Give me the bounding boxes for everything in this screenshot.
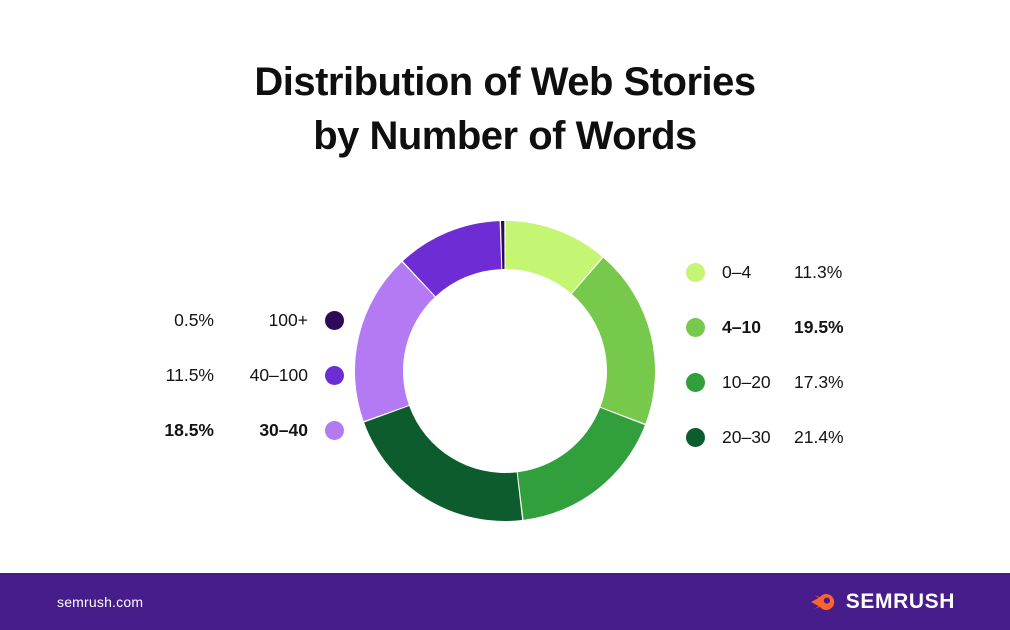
legend-swatch-icon bbox=[686, 263, 705, 282]
legend-item-value: 19.5% bbox=[794, 317, 844, 338]
legend-item-label: 10–20 bbox=[722, 372, 794, 393]
legend-swatch-icon bbox=[325, 311, 344, 330]
legend-item-label: 40–100 bbox=[232, 365, 308, 386]
semrush-comet-icon bbox=[811, 591, 837, 613]
page-title: Distribution of Web Stories by Number of… bbox=[0, 56, 1010, 163]
legend-item-value: 17.3% bbox=[794, 372, 844, 393]
legend-item-10-20[interactable]: 10–2017.3% bbox=[686, 368, 844, 396]
legend-item-value: 11.3% bbox=[794, 262, 842, 283]
donut-slice[interactable] bbox=[572, 258, 655, 424]
donut-slice[interactable] bbox=[364, 406, 522, 521]
page-title-line-1: Distribution of Web Stories bbox=[0, 56, 1010, 110]
legend-item-4-10[interactable]: 4–1019.5% bbox=[686, 313, 844, 341]
donut-slice[interactable] bbox=[355, 262, 435, 421]
legend-item-value: 18.5% bbox=[140, 420, 214, 441]
legend-item-label: 30–40 bbox=[232, 420, 308, 441]
legend-swatch-icon bbox=[686, 318, 705, 337]
brand-logo: SEMRUSH bbox=[811, 590, 955, 614]
legend-item-0-4[interactable]: 0–411.3% bbox=[686, 258, 844, 286]
legend-item-20-30[interactable]: 20–3021.4% bbox=[686, 423, 844, 451]
legend-swatch-icon bbox=[686, 373, 705, 392]
legend-swatch-icon bbox=[325, 366, 344, 385]
legend-item-label: 100+ bbox=[232, 310, 308, 331]
legend-swatch-icon bbox=[325, 421, 344, 440]
legend-item-value: 21.4% bbox=[794, 427, 844, 448]
legend-item-100+[interactable]: 0.5%100+ bbox=[140, 306, 344, 334]
legend-item-label: 20–30 bbox=[722, 427, 794, 448]
donut-chart-svg bbox=[355, 221, 655, 521]
legend-left: 0.5%100+11.5%40–10018.5%30–40 bbox=[140, 306, 344, 444]
page-title-line-2: by Number of Words bbox=[0, 110, 1010, 164]
brand-name: SEMRUSH bbox=[846, 590, 955, 614]
legend-item-label: 0–4 bbox=[722, 262, 794, 283]
donut-slice-group bbox=[355, 221, 655, 521]
legend-item-value: 11.5% bbox=[140, 365, 214, 386]
legend-item-30-40[interactable]: 18.5%30–40 bbox=[140, 416, 344, 444]
infographic-canvas: Distribution of Web Stories by Number of… bbox=[0, 0, 1010, 630]
legend-item-40-100[interactable]: 11.5%40–100 bbox=[140, 361, 344, 389]
legend-swatch-icon bbox=[686, 428, 705, 447]
donut-slice[interactable] bbox=[518, 408, 645, 520]
legend-item-label: 4–10 bbox=[722, 317, 794, 338]
legend-item-value: 0.5% bbox=[140, 310, 214, 331]
footer-url[interactable]: semrush.com bbox=[57, 594, 143, 610]
chart-area: 0–411.3%4–1019.5%10–2017.3%20–3021.4% 0.… bbox=[0, 196, 1010, 548]
footer-bar: semrush.com SEMRUSH bbox=[0, 573, 1010, 630]
legend-right: 0–411.3%4–1019.5%10–2017.3%20–3021.4% bbox=[686, 258, 844, 451]
donut-chart bbox=[355, 221, 655, 521]
donut-slice[interactable] bbox=[501, 221, 505, 269]
